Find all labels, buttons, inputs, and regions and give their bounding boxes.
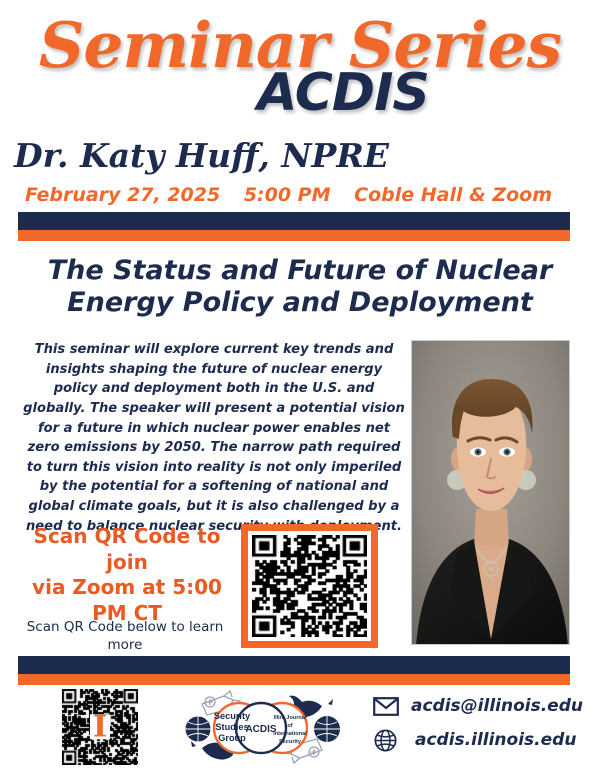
headshot-illustration (412, 341, 570, 645)
divider-orange-bar-bottom (18, 674, 570, 685)
illini-i-mark: I (90, 714, 110, 739)
flyer-header: Seminar Series ACDIS (0, 0, 600, 128)
zoom-cta-line-1: Scan QR Code to join (20, 524, 234, 575)
speaker-headshot (411, 340, 570, 645)
logo-ijis-line-4: Security (279, 739, 302, 745)
talk-title: The Status and Future of Nuclear Energy … (34, 255, 566, 319)
logo-ijis-line-2: of (287, 723, 292, 729)
logo-ijis-line-1: Illini Journal (274, 715, 307, 721)
contact-email-row[interactable]: acdis@illinois.edu (372, 694, 592, 718)
divider-bottom (18, 656, 570, 685)
acdis-logo: Security Studies Group ACDIS Illini Jour… (176, 688, 348, 766)
zoom-cta-text: Scan QR Code to join via Zoom at 5:00 PM… (20, 524, 234, 626)
envelope-icon (372, 694, 399, 718)
event-details: February 27, 2025 5:00 PM Coble Hall & Z… (0, 184, 580, 206)
globe-icon (372, 728, 399, 752)
contact-block: acdis@illinois.edu acdis.illinois.edu (372, 694, 592, 762)
logo-ssg-line-3: Group (218, 733, 246, 743)
contact-email: acdis@illinois.edu (411, 696, 583, 716)
logo-ssg-line-2: Studies (215, 722, 248, 732)
logo-acdis-label: ACDIS (245, 724, 276, 735)
qr-code-icon (252, 535, 367, 637)
divider-top (18, 212, 570, 241)
series-qr-note-line-1: Scan QR Code below to learn more (14, 618, 236, 654)
acdis-logo-graphic: Security Studies Group ACDIS Illini Jour… (176, 688, 348, 766)
event-time: 5:00 PM (244, 184, 331, 206)
event-location: Coble Hall & Zoom (354, 184, 552, 206)
org-acronym-wordmark: ACDIS (0, 63, 600, 123)
contact-website: acdis.illinois.edu (415, 730, 576, 750)
series-qr-code[interactable]: I (62, 689, 138, 765)
event-date: February 27, 2025 (25, 184, 220, 206)
talk-abstract: This seminar will explore current key tr… (22, 340, 406, 536)
zoom-qr-inner (248, 531, 371, 641)
divider-navy-bar (18, 212, 570, 230)
speaker-name: Dr. Katy Huff, NPRE (14, 136, 574, 175)
globe-icon (314, 716, 340, 742)
seminar-flyer: Seminar Series ACDIS Dr. Katy Huff, NPRE… (0, 0, 600, 776)
divider-orange-bar (18, 230, 570, 241)
zoom-qr-code[interactable] (241, 524, 378, 648)
logo-ssg-line-1: Security (214, 711, 251, 721)
globe-icon (185, 716, 211, 742)
divider-navy-bar-bottom (18, 656, 570, 674)
contact-website-row[interactable]: acdis.illinois.edu (372, 728, 592, 752)
logo-ijis-line-3: International (273, 731, 307, 737)
